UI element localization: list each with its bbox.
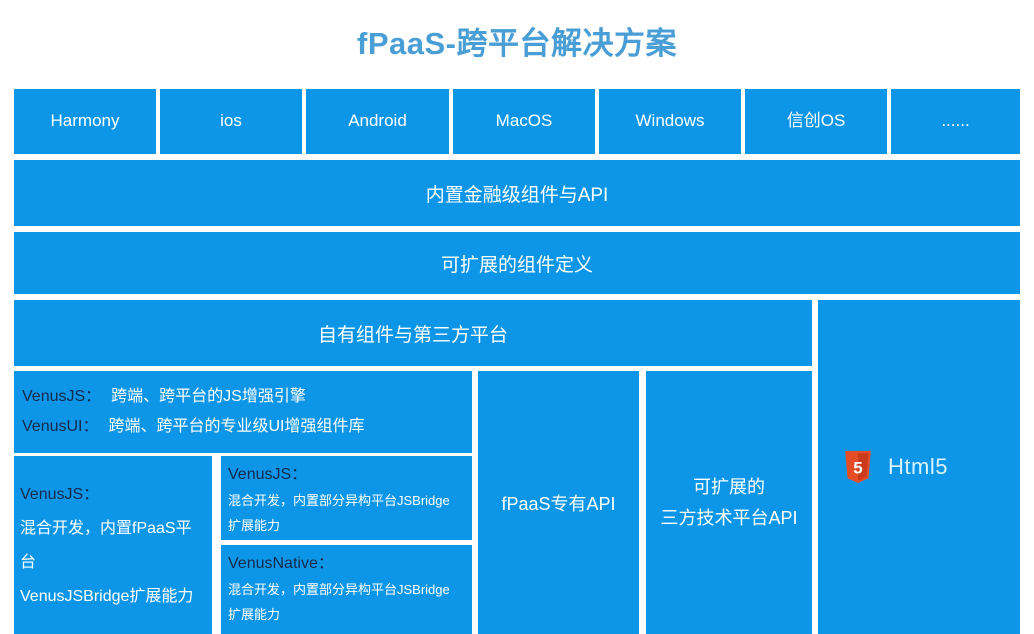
page-title: fPaaS-跨平台解决方案 [0, 18, 1034, 63]
platform-box-android[interactable]: Android [306, 89, 449, 154]
third-party-api-label-wrapper: 可扩展的 三方技术平台API [660, 472, 797, 534]
column-third-party-platform-api[interactable]: 可扩展的 三方技术平台API [646, 371, 812, 634]
hybrid-js-key: VenusJS： [228, 462, 465, 488]
hybrid-js-line1: 混合开发，内置部分异构平台JSBridge [228, 488, 465, 513]
platform-box-more[interactable]: ...... [891, 89, 1020, 154]
platform-label: Windows [636, 111, 705, 131]
hybrid-left-line1: 混合开发，内置fPaaS平台 [20, 512, 206, 580]
band-label: 自有组件与第三方平台 [318, 320, 508, 347]
platform-label: ...... [941, 111, 969, 131]
hybrid-venusjs-heterogeneous-box[interactable]: VenusJS： 混合开发，内置部分异构平台JSBridge 扩展能力 [221, 456, 472, 540]
hybrid-venusjs-fpaas-box[interactable]: VenusJS： 混合开发，内置fPaaS平台 VenusJSBridge扩展能… [14, 456, 212, 634]
hybrid-left-line2: VenusJSBridge扩展能力 [20, 580, 206, 614]
third-party-api-line1: 可扩展的 [660, 472, 797, 503]
venus-ui-description: 跨端、跨平台的专业级UI增强组件库 [109, 418, 365, 435]
html5-label: Html5 [888, 454, 948, 480]
hybrid-left-key: VenusJS： [20, 478, 206, 512]
platform-label: Android [348, 111, 407, 131]
hybrid-native-line2: 扩展能力 [228, 602, 465, 627]
band-builtin-financial-api[interactable]: 内置金融级组件与API [14, 160, 1020, 226]
html5-shield-icon: 5 [844, 451, 872, 483]
venus-js-description: 跨端、跨平台的JS增强引擎 [111, 388, 306, 405]
platform-label: Harmony [51, 111, 120, 131]
platform-label: 信创OS [787, 111, 846, 131]
hybrid-native-line1: 混合开发，内置部分异构平台JSBridge [228, 577, 465, 602]
hybrid-native-key: VenusNative： [228, 551, 465, 577]
column-fpaas-proprietary-api[interactable]: fPaaS专有API [478, 371, 639, 634]
platform-box-ios[interactable]: ios [160, 89, 302, 154]
platform-label: MacOS [496, 111, 553, 131]
platform-box-macos[interactable]: MacOS [453, 89, 595, 154]
venus-js-key: VenusJS： [22, 388, 101, 405]
platform-label: ios [220, 111, 242, 131]
third-party-api-line2: 三方技术平台API [660, 503, 797, 534]
panel-html5[interactable]: 5 Html5 [818, 300, 1020, 634]
venus-summary-row: VenusUI：跨端、跨平台的专业级UI增强组件库 [22, 412, 464, 442]
platform-box-xinchuang-os[interactable]: 信创OS [745, 89, 887, 154]
band-extensible-component-definition[interactable]: 可扩展的组件定义 [14, 232, 1020, 294]
hybrid-js-line2: 扩展能力 [228, 513, 465, 538]
band-label: 可扩展的组件定义 [441, 250, 593, 277]
venus-ui-key: VenusUI： [22, 418, 99, 435]
platform-box-windows[interactable]: Windows [599, 89, 741, 154]
band-label: 内置金融级组件与API [426, 180, 609, 207]
venus-summary-row: VenusJS：跨端、跨平台的JS增强引擎 [22, 382, 464, 412]
hybrid-venusnative-box[interactable]: VenusNative： 混合开发，内置部分异构平台JSBridge 扩展能力 [221, 545, 472, 634]
fpaas-api-label: fPaaS专有API [501, 490, 615, 516]
venus-summary-box[interactable]: VenusJS：跨端、跨平台的JS增强引擎 VenusUI：跨端、跨平台的专业级… [14, 371, 472, 453]
svg-text:5: 5 [853, 459, 862, 478]
band-own-components-and-third-party[interactable]: 自有组件与第三方平台 [14, 300, 812, 366]
platform-box-harmony[interactable]: Harmony [14, 89, 156, 154]
